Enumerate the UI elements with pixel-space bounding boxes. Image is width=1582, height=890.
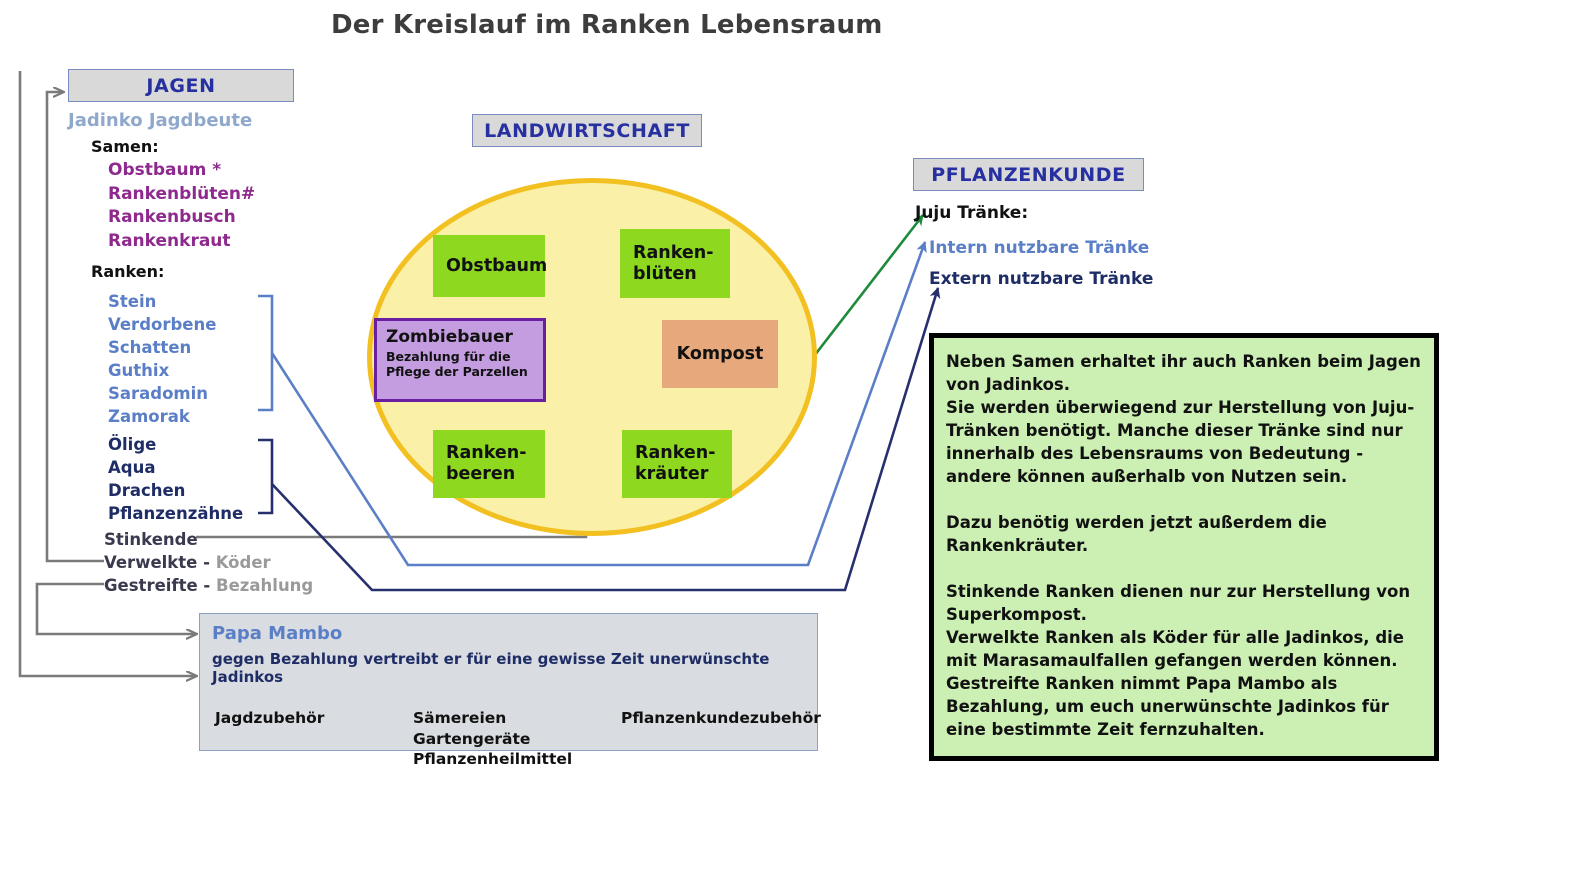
juju-traenke-label: Juju Tränke: (915, 203, 1028, 223)
list-item: Verdorbene (108, 313, 216, 336)
info-paragraph-3: Stinkende Ranken dienen nur zur Herstell… (946, 580, 1424, 741)
jagen-subtitle: Jadinko Jagdbeute (68, 110, 252, 131)
list-item: Rankenblüten# (108, 183, 255, 207)
papa-mambo-col-3: Pflanzenkundezubehör (621, 708, 821, 729)
cell-rankenbeeren[interactable]: Ranken- beeren (433, 430, 545, 498)
ranken-name: Stinkende (104, 530, 198, 549)
ranken-note: Köder (216, 553, 271, 572)
list-item: Schatten (108, 336, 216, 359)
list-item: Drachen (108, 479, 243, 502)
traenke-extern: Extern nutzbare Tränke (929, 269, 1153, 289)
papa-mambo-box[interactable]: Papa Mambo gegen Bezahlung vertreibt er … (199, 613, 818, 751)
traenke-intern: Intern nutzbare Tränke (929, 238, 1149, 258)
cell-zombiebauer[interactable]: Zombiebauer Bezahlung für die Pflege der… (374, 318, 546, 402)
cell-rankenkraeuter[interactable]: Ranken- kräuter (622, 430, 732, 498)
list-item: Pflanzenzähne (108, 502, 243, 525)
papa-mambo-col-1: Jagdzubehör (215, 708, 324, 729)
list-item: Stein (108, 290, 216, 313)
list-item: Rankenkraut (108, 230, 255, 254)
list-item: Stinkende (104, 528, 313, 551)
list-item: Guthix (108, 359, 216, 382)
papa-mambo-columns: Jagdzubehör Sämereien Gartengeräte Pflan… (212, 708, 805, 770)
ranken-note: Bezahlung (216, 576, 313, 595)
samen-list: Obstbaum * Rankenblüten# Rankenbusch Ran… (108, 159, 255, 253)
papa-mambo-title: Papa Mambo (212, 623, 805, 644)
list-item: Aqua (108, 456, 243, 479)
list-item: Verwelkte - Köder (104, 551, 313, 574)
info-paragraph-2: Dazu benötig werden jetzt außerdem die R… (946, 511, 1424, 557)
ranken-group-special: Stinkende Verwelkte - Köder Gestreifte -… (104, 528, 313, 597)
samen-label: Samen: (91, 137, 159, 156)
list-item: Gestreifte - Bezahlung (104, 574, 313, 597)
list-item: Saradomin (108, 382, 216, 405)
info-paragraph-1: Neben Samen erhaltet ihr auch Ranken bei… (946, 350, 1424, 488)
list-item: Obstbaum * (108, 159, 255, 183)
ranken-label: Ranken: (91, 262, 164, 281)
ranken-name: Verwelkte - (104, 553, 210, 572)
info-box: Neben Samen erhaltet ihr auch Ranken bei… (929, 333, 1439, 761)
spacer (946, 488, 1424, 511)
list-item: Zamorak (108, 405, 216, 428)
diagram-canvas: Der Kreislauf im Ranken Lebensraum JAGEN… (0, 0, 1582, 890)
papa-mambo-col-2: Sämereien Gartengeräte Pflanzenheilmitte… (413, 708, 572, 770)
list-item: Rankenbusch (108, 206, 255, 230)
zombiebauer-title: Zombiebauer (386, 327, 534, 347)
spacer (946, 557, 1424, 580)
papa-mambo-subtitle: gegen Bezahlung vertreibt er für eine ge… (212, 650, 805, 686)
page-title: Der Kreislauf im Ranken Lebensraum (331, 10, 883, 40)
cell-kompost[interactable]: Kompost (662, 320, 778, 388)
cell-obstbaum[interactable]: Obstbaum (433, 235, 545, 297)
zombiebauer-subtitle: Bezahlung für die Pflege der Parzellen (386, 350, 534, 379)
section-header-jagen[interactable]: JAGEN (68, 69, 294, 102)
section-header-landwirtschaft[interactable]: LANDWIRTSCHAFT (472, 114, 702, 147)
ranken-name: Gestreifte - (104, 576, 210, 595)
cell-rankenblueten[interactable]: Ranken- blüten (620, 229, 730, 298)
list-item: Ölige (108, 433, 243, 456)
section-header-pflanzenkunde[interactable]: PFLANZENKUNDE (913, 158, 1144, 191)
ranken-group-elemental: Ölige Aqua Drachen Pflanzenzähne (108, 433, 243, 525)
ranken-group-god: Stein Verdorbene Schatten Guthix Saradom… (108, 290, 216, 428)
